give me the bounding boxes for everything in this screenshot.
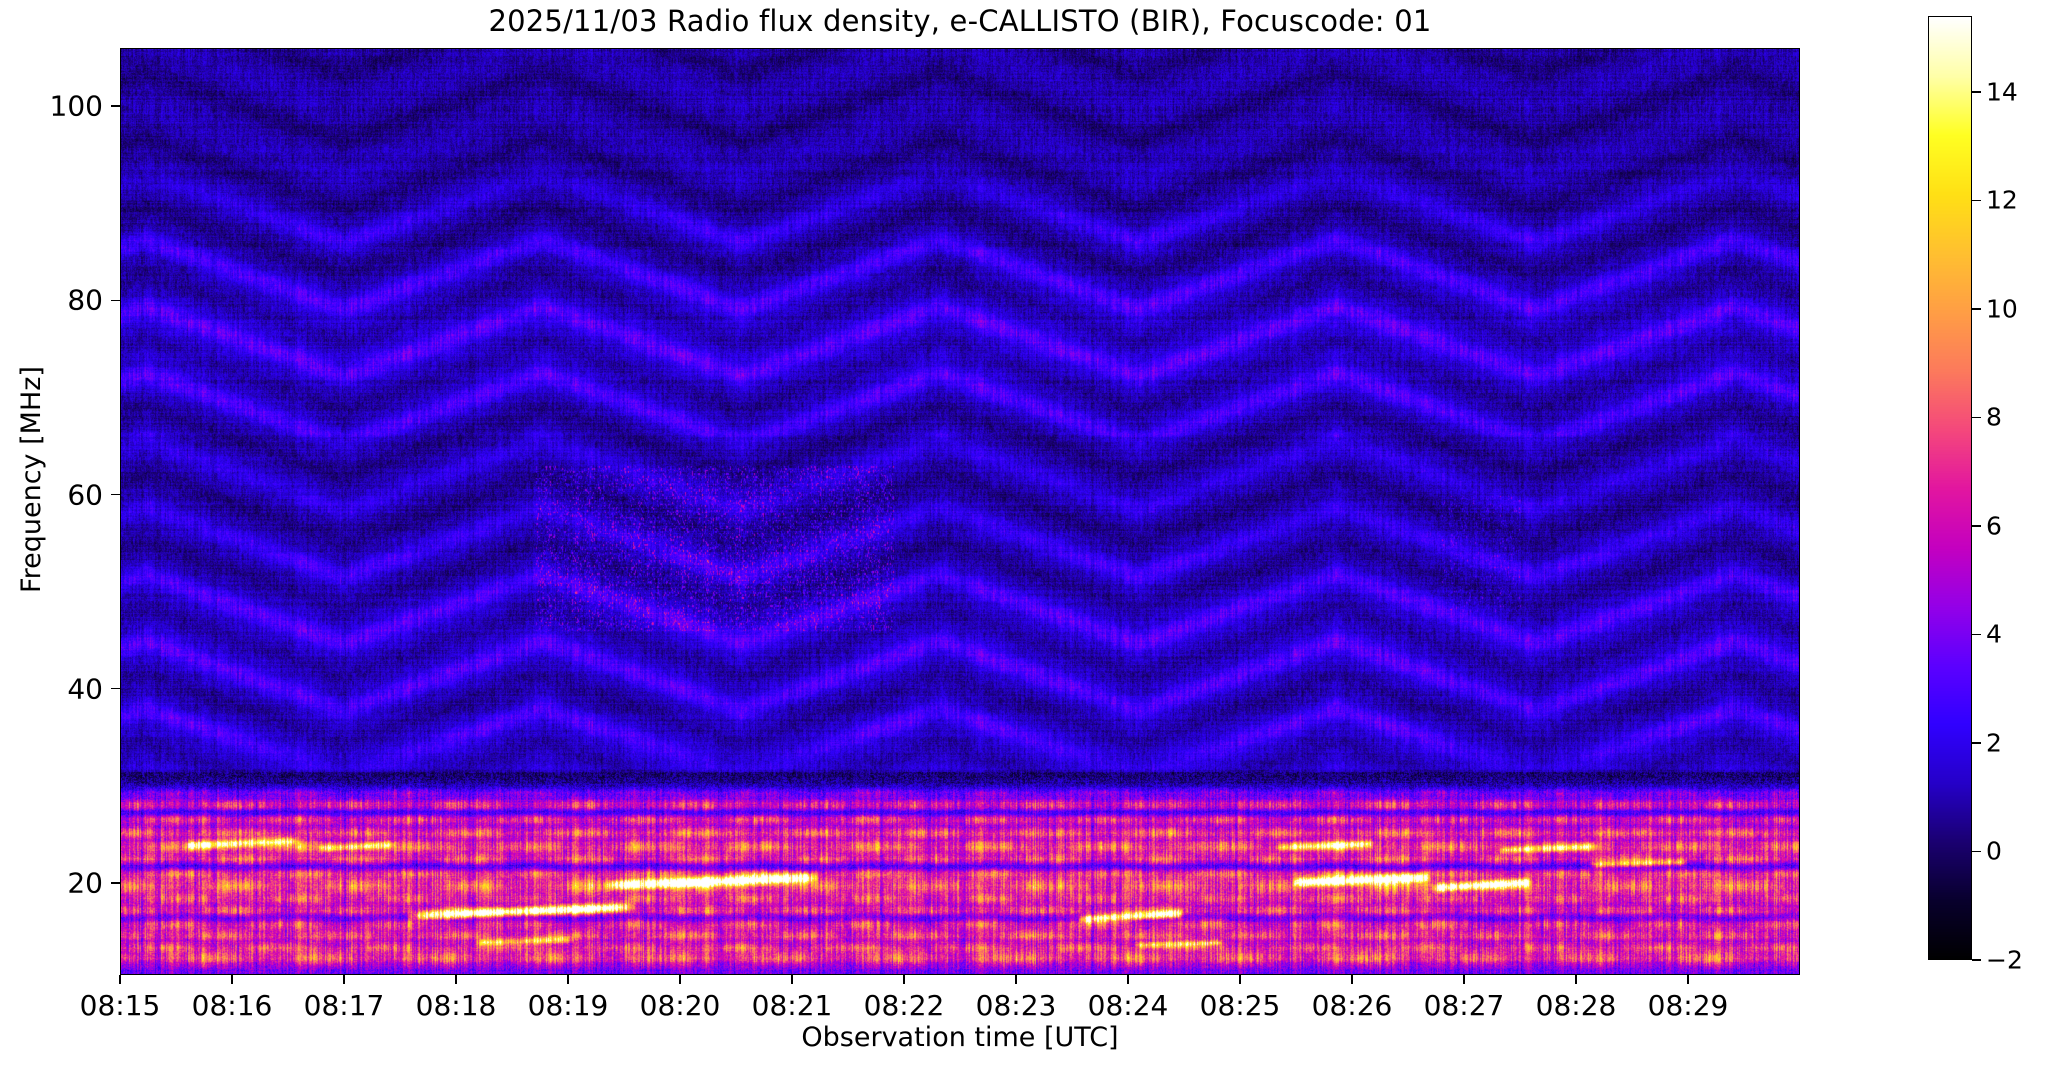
colorbar-tick-mark xyxy=(1972,851,1981,853)
spectrogram-plot-area xyxy=(120,48,1800,975)
x-tick-mark xyxy=(1687,975,1689,984)
x-tick-mark xyxy=(1127,975,1129,984)
x-tick-mark xyxy=(567,975,569,984)
x-tick-label: 08:23 xyxy=(976,989,1057,1022)
colorbar-tick-mark xyxy=(1972,91,1981,93)
x-axis-label: Observation time [UTC] xyxy=(120,1022,1800,1053)
x-tick-mark xyxy=(1015,975,1017,984)
figure-title: 2025/11/03 Radio flux density, e-CALLIST… xyxy=(120,4,1800,38)
y-tick-mark xyxy=(111,300,120,302)
y-tick-label: 20 xyxy=(67,866,103,899)
x-tick-label: 08:21 xyxy=(752,989,833,1022)
x-tick-label: 08:25 xyxy=(1200,989,1281,1022)
x-tick-label: 08:20 xyxy=(640,989,721,1022)
x-tick-label: 08:17 xyxy=(304,989,385,1022)
y-tick-label: 60 xyxy=(67,478,103,511)
x-tick-mark xyxy=(791,975,793,984)
colorbar-tick-mark xyxy=(1972,742,1981,744)
x-tick-mark xyxy=(679,975,681,984)
x-tick-label: 08:15 xyxy=(80,989,161,1022)
y-tick-label: 100 xyxy=(50,90,103,123)
x-tick-mark xyxy=(1351,975,1353,984)
x-tick-mark xyxy=(343,975,345,984)
spectrogram-canvas xyxy=(121,49,1800,975)
x-tick-label: 08:19 xyxy=(528,989,609,1022)
colorbar-tick-label: −2 xyxy=(1986,946,2023,975)
colorbar-tick-label: 14 xyxy=(1986,77,2018,106)
spectrogram-figure: 2025/11/03 Radio flux density, e-CALLIST… xyxy=(0,0,2066,1067)
colorbar-tick-mark xyxy=(1972,308,1981,310)
y-tick-mark xyxy=(111,688,120,690)
x-tick-mark xyxy=(903,975,905,984)
y-tick-mark xyxy=(111,494,120,496)
x-tick-label: 08:28 xyxy=(1536,989,1617,1022)
colorbar-tick-label: 6 xyxy=(1986,511,2002,540)
x-tick-mark xyxy=(1575,975,1577,984)
x-tick-label: 08:27 xyxy=(1424,989,1505,1022)
y-tick-label: 80 xyxy=(67,284,103,317)
colorbar-tick-label: 4 xyxy=(1986,620,2002,649)
x-tick-mark xyxy=(231,975,233,984)
x-tick-mark xyxy=(1463,975,1465,984)
colorbar-tick-label: 2 xyxy=(1986,728,2002,757)
colorbar-gradient xyxy=(1929,17,1972,960)
x-tick-mark xyxy=(455,975,457,984)
y-tick-label: 40 xyxy=(67,672,103,705)
x-tick-label: 08:29 xyxy=(1648,989,1729,1022)
colorbar-tick-label: 8 xyxy=(1986,403,2002,432)
y-axis-label: Frequency [MHz] xyxy=(16,16,47,943)
colorbar-tick-mark xyxy=(1972,200,1981,202)
x-tick-mark xyxy=(1239,975,1241,984)
x-tick-label: 08:24 xyxy=(1088,989,1169,1022)
colorbar-tick-label: 10 xyxy=(1986,294,2018,323)
colorbar-tick-label: 0 xyxy=(1986,837,2002,866)
x-tick-label: 08:16 xyxy=(192,989,273,1022)
y-tick-mark xyxy=(111,105,120,107)
x-tick-label: 08:22 xyxy=(864,989,945,1022)
y-tick-mark xyxy=(111,882,120,884)
colorbar xyxy=(1928,16,1972,960)
colorbar-tick-mark xyxy=(1972,959,1981,961)
colorbar-tick-mark xyxy=(1972,417,1981,419)
colorbar-tick-mark xyxy=(1972,634,1981,636)
x-tick-label: 08:26 xyxy=(1312,989,1393,1022)
x-tick-mark xyxy=(119,975,121,984)
colorbar-tick-label: 12 xyxy=(1986,186,2018,215)
colorbar-tick-mark xyxy=(1972,525,1981,527)
x-tick-label: 08:18 xyxy=(416,989,497,1022)
